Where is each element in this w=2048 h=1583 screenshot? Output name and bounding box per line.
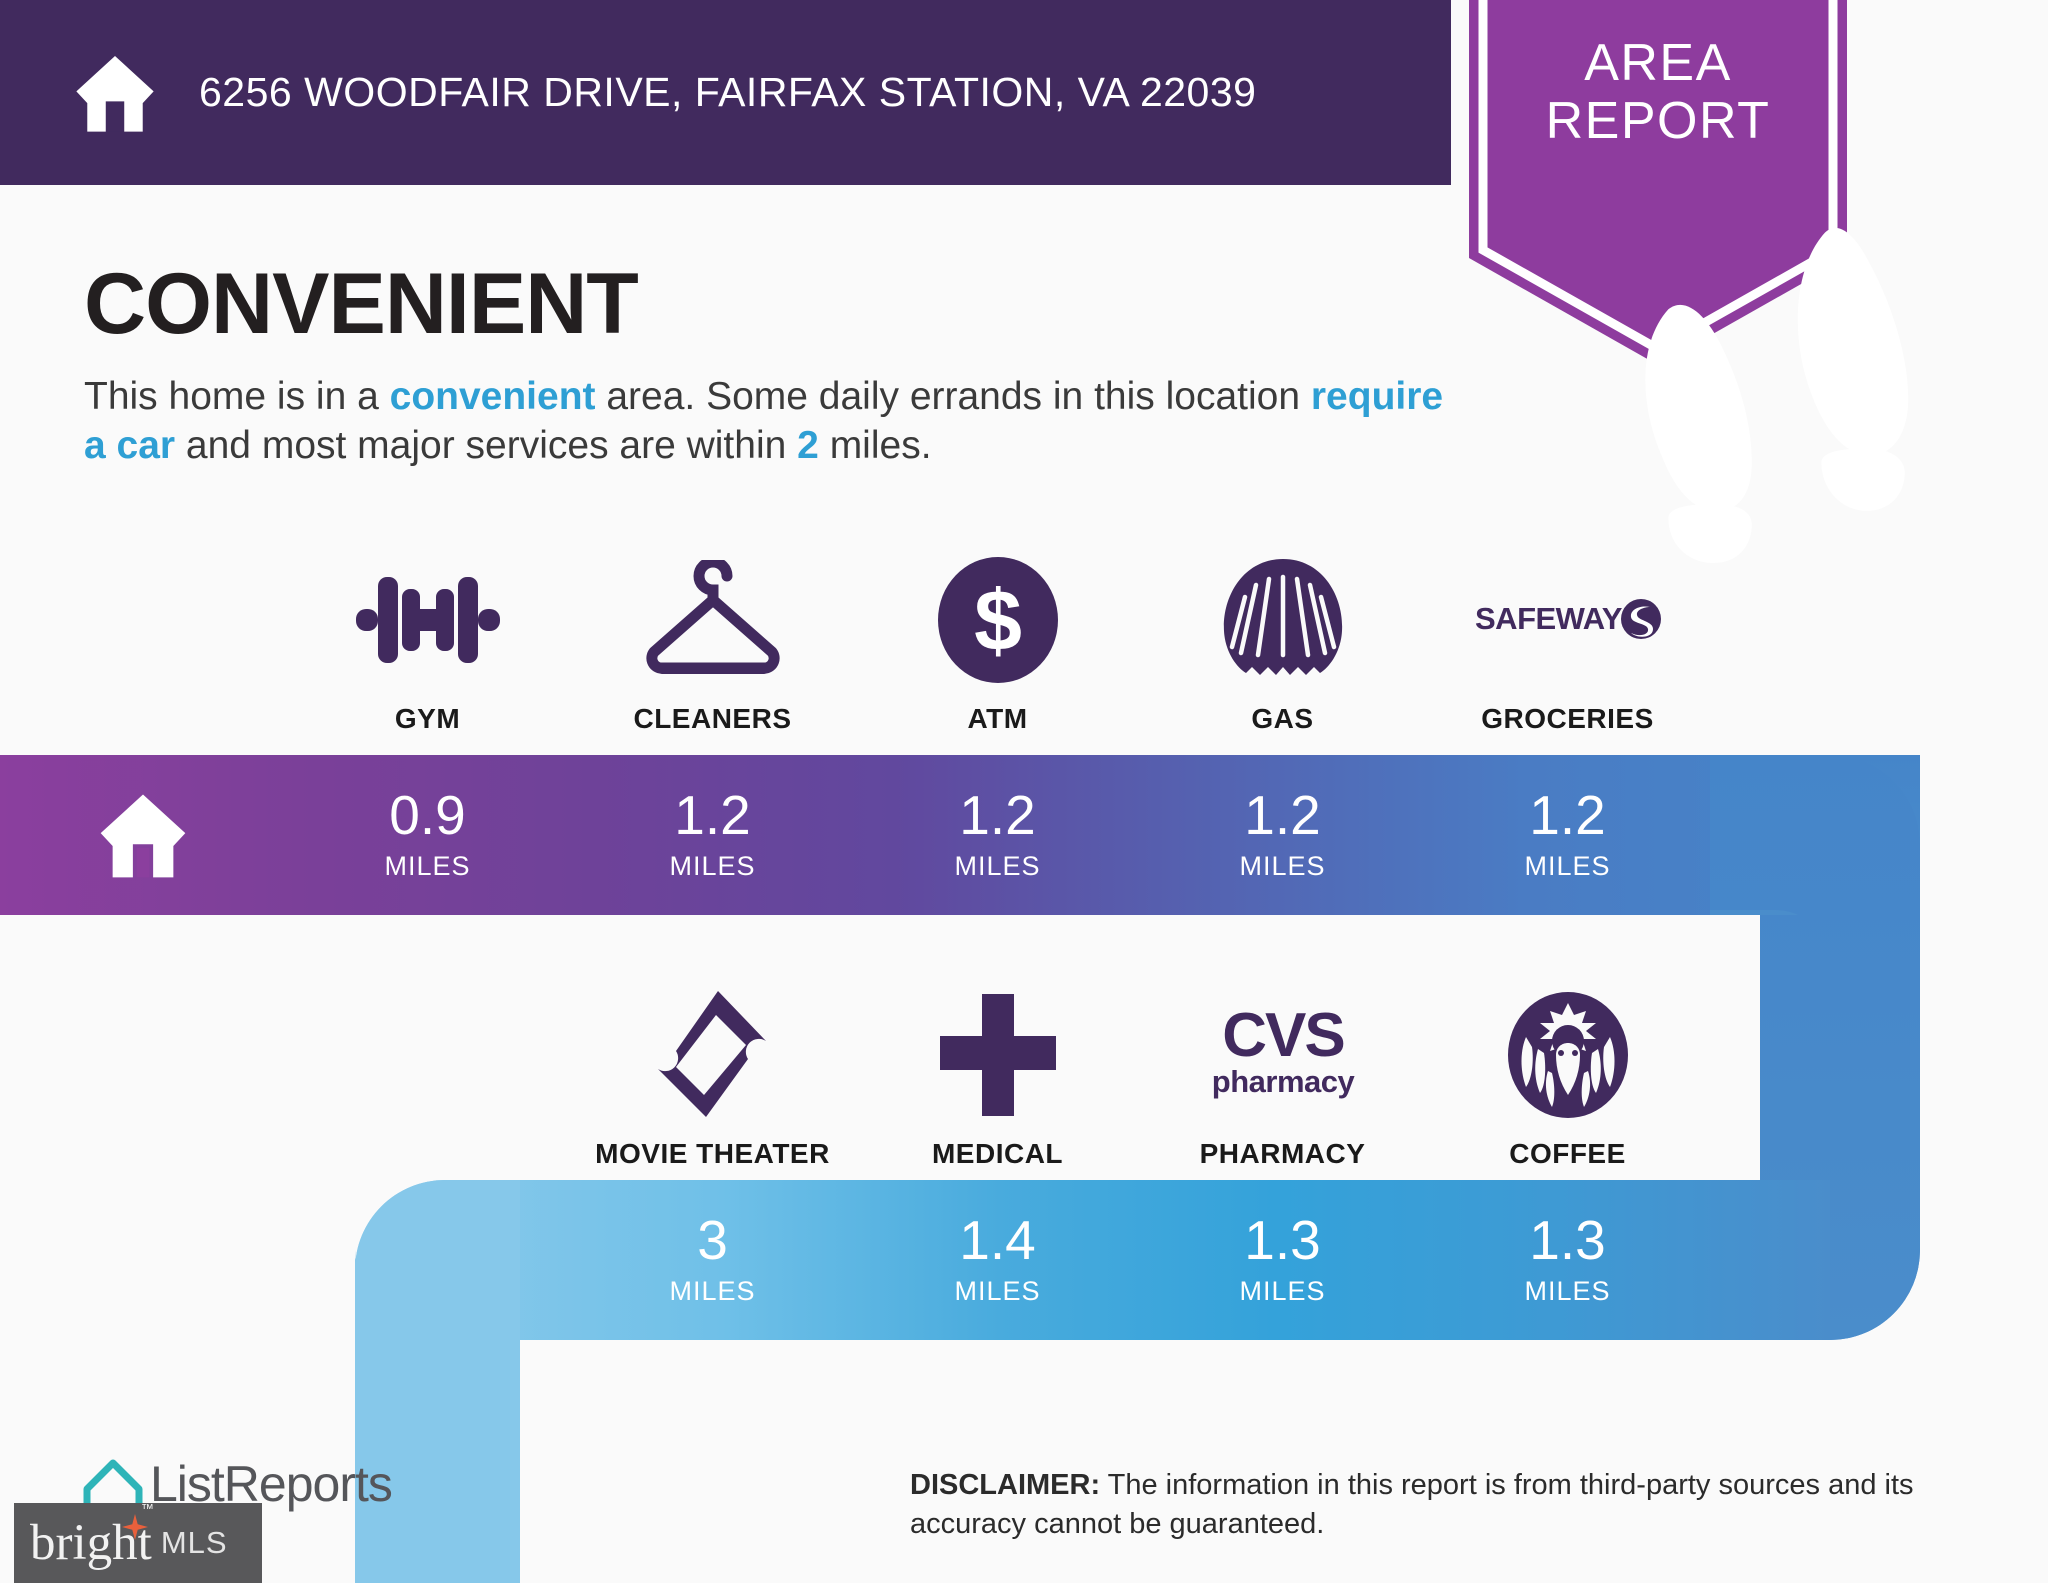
house-icon <box>95 789 191 881</box>
poi-groceries: SAFEWAY GROCERIES <box>1425 555 1710 735</box>
distance-unit: MILES <box>954 851 1040 882</box>
mls-text: MLS <box>161 1525 228 1561</box>
trademark-symbol: ™ <box>141 1502 154 1515</box>
svg-text:pharmacy: pharmacy <box>1211 1064 1355 1099</box>
distance-movie-theater: 3 MILES <box>570 1180 855 1340</box>
distance-gym: 0.9 MILES <box>285 755 570 915</box>
distance-unit: MILES <box>1239 851 1325 882</box>
poi-label: MOVIE THEATER <box>595 1138 830 1170</box>
poi-coffee: COFFEE <box>1425 990 1710 1170</box>
distance-value: 1.2 <box>1529 788 1605 843</box>
starbucks-logo-icon <box>1504 990 1632 1120</box>
medical-cross-icon <box>938 990 1058 1120</box>
poi-label: CLEANERS <box>633 703 791 735</box>
svg-text:$: $ <box>974 573 1022 669</box>
poi-label: ATM <box>967 703 1027 735</box>
disclaimer-text: DISCLAIMER: The information in this repo… <box>910 1466 1980 1543</box>
distance-unit: MILES <box>1524 1276 1610 1307</box>
distance-atm: 1.2 MILES <box>855 755 1140 915</box>
distance-groceries: 1.2 MILES <box>1425 755 1710 915</box>
bright-mls-watermark: bright ™ MLS <box>14 1503 262 1583</box>
bright-wordmark: bright ™ <box>30 1518 152 1569</box>
poi-gas: GAS <box>1140 555 1425 735</box>
poi-label: GROCERIES <box>1481 703 1654 735</box>
poi-label: GYM <box>395 703 460 735</box>
poi-medical: MEDICAL <box>855 990 1140 1170</box>
movie-ticket-icon <box>648 990 778 1120</box>
bright-star-icon <box>122 1514 148 1540</box>
cvs-logo-icon: CVS pharmacy <box>1198 990 1368 1120</box>
distance-pharmacy: 1.3 MILES <box>1140 1180 1425 1340</box>
distance-cleaners: 1.2 MILES <box>570 755 855 915</box>
distance-coffee: 1.3 MILES <box>1425 1180 1710 1340</box>
distance-gas: 1.2 MILES <box>1140 755 1425 915</box>
distance-unit: MILES <box>669 1276 755 1307</box>
poi-label: GAS <box>1251 703 1313 735</box>
svg-text:SAFEWAY: SAFEWAY <box>1475 601 1623 636</box>
distance-value: 1.3 <box>1244 1213 1320 1268</box>
poi-movie-theater: MOVIE THEATER <box>570 990 855 1170</box>
distance-unit: MILES <box>384 851 470 882</box>
distance-unit: MILES <box>954 1276 1040 1307</box>
poi-label: COFFEE <box>1509 1138 1626 1170</box>
svg-text:CVS: CVS <box>1222 1001 1343 1070</box>
poi-atm: $ ATM <box>855 555 1140 735</box>
home-marker-cell <box>0 755 285 915</box>
distance-value: 1.3 <box>1529 1213 1605 1268</box>
poi-cleaners: CLEANERS <box>570 555 855 735</box>
dumbbell-icon <box>348 555 508 685</box>
distance-unit: MILES <box>1524 851 1610 882</box>
safeway-logo-icon: SAFEWAY <box>1473 555 1663 685</box>
distance-unit: MILES <box>1239 1276 1325 1307</box>
poi-label: MEDICAL <box>932 1138 1063 1170</box>
disclaimer-label: DISCLAIMER: <box>910 1469 1100 1501</box>
distance-value: 1.2 <box>674 788 750 843</box>
poi-label: PHARMACY <box>1200 1138 1366 1170</box>
area-report-infographic: 6256 WOODFAIR DRIVE, FAIRFAX STATION, VA… <box>0 0 2048 1583</box>
distance-value: 3 <box>697 1213 728 1268</box>
poi-gym: GYM <box>285 555 570 735</box>
distance-value: 0.9 <box>389 788 465 843</box>
distance-value: 1.2 <box>1244 788 1320 843</box>
hanger-icon <box>638 555 788 685</box>
poi-pharmacy: CVS pharmacy PHARMACY <box>1140 990 1425 1170</box>
dollar-circle-icon: $ <box>933 555 1063 685</box>
distance-unit: MILES <box>669 851 755 882</box>
distance-value: 1.2 <box>959 788 1035 843</box>
distance-medical: 1.4 MILES <box>855 1180 1140 1340</box>
shell-logo-icon <box>1218 555 1348 685</box>
distance-value: 1.4 <box>959 1213 1035 1268</box>
